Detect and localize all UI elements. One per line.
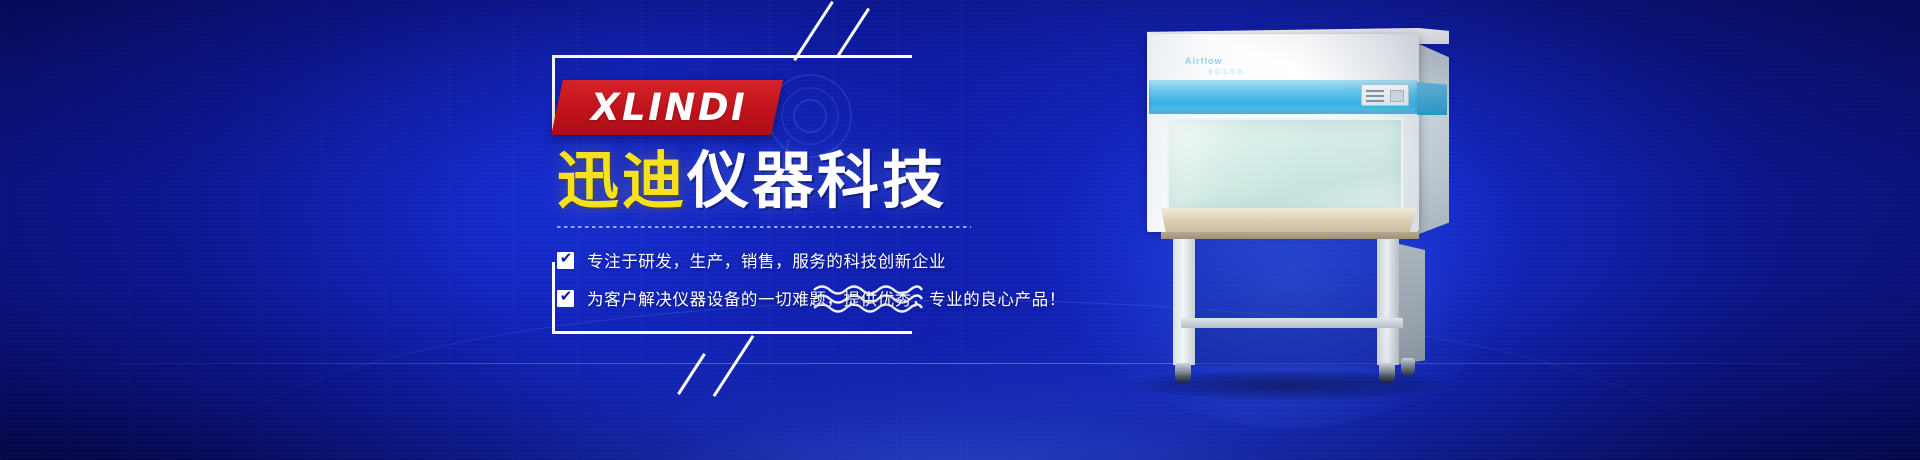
bullet-list: ✔ 专注于研发，生产，销售，服务的科技创新企业 ✔ 为客户解决仪器设备的一切难题…: [557, 248, 1027, 310]
panel-line: [1366, 90, 1384, 92]
list-item: ✔ 专注于研发，生产，销售，服务的科技创新企业: [557, 248, 1027, 272]
bullet-text: 为客户解决仪器设备的一切难题，提供优秀，专业的良心产品！: [587, 286, 1066, 310]
product-work-surface: [1161, 208, 1417, 234]
floor-line: [0, 363, 1920, 364]
product-glass-sash: [1167, 118, 1403, 216]
product-brand-mark: Airflow: [1185, 56, 1305, 66]
check-glyph: ✔: [559, 289, 573, 305]
banner-content: XLINDI 迅迪仪器科技 ✔ 专注于研发，生产，销售，服务的科技创新企业 ✔ …: [557, 80, 1027, 324]
panel-line: [1366, 100, 1384, 102]
product-brand-sub: 净化工作台: [1207, 67, 1245, 76]
diagonal-slash-icon: [837, 8, 870, 57]
panel-line: [1366, 95, 1384, 97]
check-glyph: ✔: [559, 251, 573, 267]
check-icon: ✔: [557, 252, 574, 269]
product-shadow: [1135, 370, 1445, 400]
product-stand-leg-left: [1173, 239, 1195, 365]
dotted-divider: [557, 226, 971, 228]
product-caster: [1401, 358, 1415, 376]
panel-display: [1390, 90, 1404, 102]
headline-gold-part: 迅迪: [557, 144, 687, 217]
list-item: ✔ 为客户解决仪器设备的一切难题，提供优秀，专业的良心产品！: [557, 286, 1027, 310]
product-stand-side: [1399, 244, 1425, 364]
product-control-panel: [1361, 84, 1409, 106]
brand-logo-badge: XLINDI: [551, 80, 783, 135]
headline: 迅迪仪器科技: [557, 149, 1027, 212]
product-stand-rail: [1181, 318, 1403, 328]
product-stand-backdrop: [1195, 239, 1377, 365]
product-image-laminar-flow-clean-bench: Airflow 净化工作台: [1125, 18, 1455, 393]
product-stand-leg-right: [1377, 239, 1399, 365]
brand-logo-text: XLINDI: [591, 89, 747, 126]
headline-white-part: 仪器科技: [687, 144, 947, 217]
diagonal-slash-icon: [793, 1, 834, 61]
bullet-text: 专注于研发，生产，销售，服务的科技创新企业: [587, 248, 946, 272]
product-hood-side: [1419, 44, 1449, 234]
product-lightband-side: [1417, 82, 1447, 115]
check-icon: ✔: [557, 290, 574, 307]
product-work-surface-edge: [1161, 232, 1419, 239]
promo-banner: XLINDI 迅迪仪器科技 ✔ 专注于研发，生产，销售，服务的科技创新企业 ✔ …: [0, 0, 1920, 460]
